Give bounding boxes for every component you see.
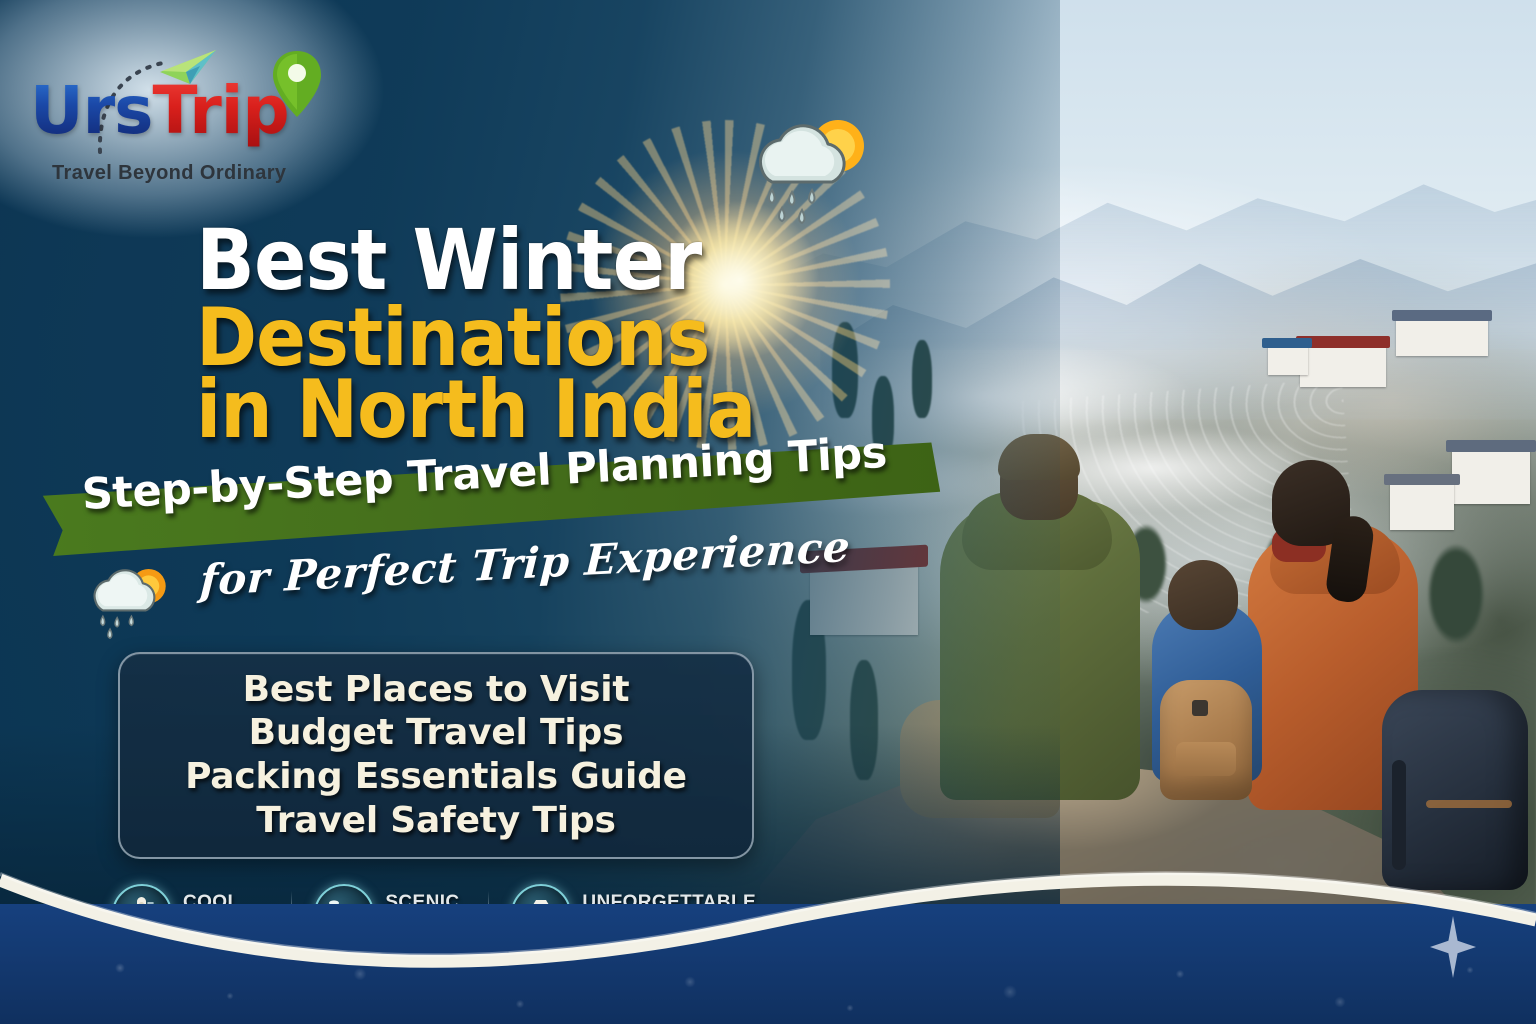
village-roof — [1384, 474, 1460, 485]
village-building — [1396, 318, 1488, 356]
promo-banner: UrsTrip Travel Beyond Ordinary — [0, 0, 1536, 1024]
child-backpack — [1160, 680, 1252, 800]
brand-name-part1: Urs — [30, 72, 152, 149]
dark-backpack-zipper — [1426, 800, 1512, 808]
feature-list-box: Best Places to Visit Budget Travel Tips … — [118, 652, 754, 859]
feature-item: Budget Travel Tips — [249, 713, 624, 754]
feature-item: Travel Safety Tips — [256, 801, 615, 842]
child-backpack-pocket — [1176, 742, 1236, 776]
brand-logo[interactable]: UrsTrip Travel Beyond Ordinary — [30, 26, 350, 196]
feature-item: Packing Essentials Guide — [185, 757, 687, 798]
village-roof — [1262, 338, 1312, 348]
village-building — [1268, 345, 1308, 375]
brand-name-part2: Trip — [152, 72, 288, 149]
brand-tagline: Travel Beyond Ordinary — [52, 162, 286, 185]
map-pin-icon — [270, 48, 324, 120]
bottom-wave-divider — [0, 854, 1536, 1024]
village-building — [1452, 448, 1530, 504]
headline-line-1: Best Winter — [196, 222, 840, 299]
cloud-sun-rain-icon-small — [80, 556, 180, 652]
child-head — [1168, 560, 1238, 630]
village-roof — [1446, 440, 1536, 452]
cloud-sun-rain-icon — [740, 108, 880, 238]
village-building — [1300, 345, 1386, 387]
feature-item: Best Places to Visit — [243, 670, 630, 711]
child-backpack-tag — [1192, 700, 1208, 716]
headline-block: Best Winter Destinations in North India — [196, 222, 896, 446]
village-roof — [1392, 310, 1492, 321]
brand-wordmark: UrsTrip — [30, 78, 289, 144]
